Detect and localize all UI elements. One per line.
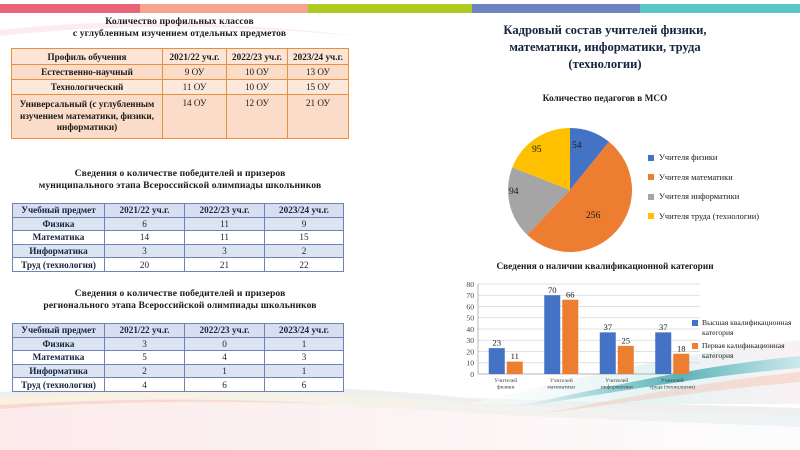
- x-axis-category-label: Учителей: [494, 377, 517, 384]
- legend-swatch-icon: [648, 155, 654, 161]
- y-axis-tick: 10: [466, 359, 474, 368]
- col-header-profile: Профиль обучения: [12, 49, 163, 65]
- cell-value: 1: [265, 364, 344, 378]
- row-label: Математика: [13, 351, 105, 365]
- pie-data-label-1: 256: [586, 210, 600, 221]
- cell-value: 4: [185, 351, 265, 365]
- bar-1-1: [562, 300, 578, 374]
- pie-chart-svg: [506, 126, 634, 254]
- pie-legend-label: Учителя труда (технологии): [659, 212, 759, 221]
- bar-0-0: [489, 348, 505, 374]
- bar-value-label: 25: [621, 335, 630, 345]
- table-profiles-title-line1: Количество профильных классов: [11, 16, 348, 28]
- top-color-strip: [0, 4, 800, 13]
- cell-value: 13 ОУ: [288, 65, 349, 80]
- strip-segment-2: [140, 4, 308, 13]
- bar-2-1: [618, 346, 634, 374]
- cell-value: 1: [185, 364, 265, 378]
- pie-legend-item[interactable]: Учителя физики: [648, 148, 798, 168]
- col-header-2021: 2021/22 уч.г.: [163, 49, 227, 65]
- pie-legend-label: Учителя физики: [659, 153, 717, 162]
- y-axis-tick: 50: [466, 314, 474, 323]
- bar-value-label: 23: [492, 338, 501, 348]
- cell-value: 15 ОУ: [288, 80, 349, 95]
- cell-value: 3: [105, 337, 185, 351]
- y-axis-tick: 40: [466, 325, 474, 334]
- bar-value-label: 18: [677, 343, 686, 353]
- x-axis-category-label: Учителей: [605, 377, 628, 384]
- bar-legend-item[interactable]: Высшая квалификационная категория: [692, 318, 800, 337]
- bar-0-1: [507, 362, 523, 374]
- cell-value: 12 ОУ: [227, 95, 288, 139]
- row-label: Физика: [13, 217, 105, 231]
- cell-value: 3: [265, 351, 344, 365]
- legend-swatch-icon: [692, 343, 698, 349]
- pie-chart-legend: Учителя физикиУчителя математикиУчителя …: [648, 148, 798, 226]
- table-municipal-title-line1: Сведения о количестве победителей и приз…: [0, 168, 360, 180]
- bar-chart-title: Сведения о наличии квалификационной кате…: [440, 262, 770, 272]
- legend-swatch-icon: [692, 320, 698, 326]
- cell-value: 11: [185, 231, 265, 245]
- legend-swatch-icon: [648, 174, 654, 180]
- table-row: Физика 6 11 9: [13, 217, 344, 231]
- cell-value: 5: [105, 351, 185, 365]
- table-profile-classes: Профиль обучения 2021/22 уч.г. 2022/23 у…: [11, 48, 349, 139]
- bar-value-label: 66: [566, 289, 575, 299]
- table-municipal-title: Сведения о количестве победителей и приз…: [0, 168, 360, 191]
- pie-legend-label: Учителя математики: [659, 173, 733, 182]
- bar-3-1: [673, 354, 689, 374]
- table-row-header: Учебный предмет 2021/22 уч.г. 2022/23 уч…: [13, 324, 344, 338]
- y-axis-tick: 70: [466, 291, 474, 300]
- table-municipal-title-line2: муниципального этапа Всероссийской олимп…: [0, 180, 360, 192]
- cell-value: 2: [265, 244, 344, 258]
- slide-heading-line3: (технологии): [420, 56, 790, 73]
- bar-value-label: 70: [548, 285, 557, 295]
- cell-value: 3: [185, 244, 265, 258]
- pie-legend-item[interactable]: Учителя информатики: [648, 187, 798, 207]
- table-regional-title-line1: Сведения о количестве победителей и приз…: [0, 288, 360, 300]
- y-axis-tick: 80: [466, 280, 474, 289]
- cell-value: 6: [105, 217, 185, 231]
- row-label: Технологический: [12, 80, 163, 95]
- row-label: Труд (технология): [13, 378, 105, 392]
- bar-value-label: 11: [511, 351, 519, 361]
- row-label: Естественно-научный: [12, 65, 163, 80]
- bar-legend-label: Первая калификационная категория: [702, 341, 800, 360]
- bar-3-0: [655, 332, 671, 374]
- y-axis-tick: 0: [470, 370, 474, 379]
- x-axis-category-label: математики: [547, 384, 575, 390]
- col-header-2022: 2022/23 уч.г.: [227, 49, 288, 65]
- col-header-2023: 2023/24 уч.г.: [265, 204, 344, 218]
- x-axis-category-label: Учителей: [661, 377, 684, 384]
- strip-segment-5: [640, 4, 800, 13]
- cell-value: 20: [105, 258, 185, 272]
- pie-legend-item[interactable]: Учителя математики: [648, 168, 798, 188]
- pie-legend-label: Учителя информатики: [659, 192, 739, 201]
- strip-segment-4: [472, 4, 640, 13]
- slide-heading-line1: Кадровый состав учителей физики,: [420, 22, 790, 39]
- cell-value: 10 ОУ: [227, 65, 288, 80]
- table-municipal-winners: Учебный предмет 2021/22 уч.г. 2022/23 уч…: [12, 203, 344, 272]
- pie-legend-item[interactable]: Учителя труда (технологии): [648, 207, 798, 227]
- cell-value: 9 ОУ: [163, 65, 227, 80]
- table-regional-title-line2: регионального этапа Всероссийской олимпи…: [0, 300, 360, 312]
- table-row: Математика 14 11 15: [13, 231, 344, 245]
- bar-1-0: [544, 295, 560, 374]
- table-row-header: Профиль обучения 2021/22 уч.г. 2022/23 у…: [12, 49, 349, 65]
- col-header-2023: 2023/24 уч.г.: [288, 49, 349, 65]
- cell-value: 10 ОУ: [227, 80, 288, 95]
- y-axis-tick: 20: [466, 347, 474, 356]
- table-row: Информатика 3 3 2: [13, 244, 344, 258]
- row-label: Информатика: [13, 244, 105, 258]
- slide-heading: Кадровый состав учителей физики, математ…: [420, 22, 790, 73]
- col-header-2021: 2021/22 уч.г.: [105, 324, 185, 338]
- cell-value: 11: [185, 217, 265, 231]
- x-axis-category-label: Учителей: [550, 377, 573, 384]
- table-row: Физика 3 0 1: [13, 337, 344, 351]
- row-label: Труд (технология): [13, 258, 105, 272]
- pie-data-label-2: 94: [509, 186, 519, 197]
- row-label: Информатика: [13, 364, 105, 378]
- y-axis-tick: 60: [466, 302, 474, 311]
- col-header-2023: 2023/24 уч.г.: [265, 324, 344, 338]
- cell-value: 4: [105, 378, 185, 392]
- row-label: Математика: [13, 231, 105, 245]
- cell-value: 2: [105, 364, 185, 378]
- bar-legend-label: Высшая квалификационная категория: [702, 318, 800, 337]
- cell-value: 21 ОУ: [288, 95, 349, 139]
- x-axis-category-label: труда (технологии): [650, 383, 696, 390]
- bar-value-label: 37: [603, 322, 612, 332]
- cell-value: 14 ОУ: [163, 95, 227, 139]
- table-profiles-title: Количество профильных классов с углублен…: [11, 16, 348, 39]
- table-row: Информатика 2 1 1: [13, 364, 344, 378]
- bar-chart-legend: Высшая квалификационная категорияПервая …: [692, 318, 800, 364]
- col-header-2022: 2022/23 уч.г.: [185, 324, 265, 338]
- cell-value: 0: [185, 337, 265, 351]
- bar-value-label: 37: [659, 322, 668, 332]
- cell-value: 11 ОУ: [163, 80, 227, 95]
- x-axis-category-label: информатики: [601, 383, 633, 390]
- legend-swatch-icon: [648, 213, 654, 219]
- col-header-subject: Учебный предмет: [13, 204, 105, 218]
- table-row: Математика 5 4 3: [13, 351, 344, 365]
- table-profiles-title-line2: с углубленным изучением отдельных предме…: [11, 28, 348, 40]
- legend-swatch-icon: [648, 194, 654, 200]
- col-header-2022: 2022/23 уч.г.: [185, 204, 265, 218]
- row-label: Физика: [13, 337, 105, 351]
- strip-segment-3: [308, 4, 472, 13]
- slide-heading-line2: математики, информатики, труда: [420, 39, 790, 56]
- cell-value: 1: [265, 337, 344, 351]
- bar-2-0: [600, 332, 616, 374]
- pie-chart-title: Количество педагогов в МСО: [470, 94, 740, 104]
- pie-chart: 54 256 94 95: [506, 126, 634, 254]
- bar-legend-item[interactable]: Первая калификационная категория: [692, 341, 800, 360]
- table-row-header: Учебный предмет 2021/22 уч.г. 2022/23 уч…: [13, 204, 344, 218]
- table-row: Универсальный (с углубленным изучением м…: [12, 95, 349, 139]
- table-regional-winners: Учебный предмет 2021/22 уч.г. 2022/23 уч…: [12, 323, 344, 392]
- cell-value: 6: [185, 378, 265, 392]
- cell-value: 9: [265, 217, 344, 231]
- y-axis-tick: 30: [466, 336, 474, 345]
- cell-value: 14: [105, 231, 185, 245]
- table-row: Труд (технология) 20 21 22: [13, 258, 344, 272]
- cell-value: 21: [185, 258, 265, 272]
- strip-segment-1: [0, 4, 140, 13]
- row-label: Универсальный (с углубленным изучением м…: [12, 95, 163, 139]
- pie-data-label-0: 54: [572, 140, 582, 151]
- col-header-2021: 2021/22 уч.г.: [105, 204, 185, 218]
- col-header-subject: Учебный предмет: [13, 324, 105, 338]
- pie-data-label-3: 95: [532, 144, 542, 155]
- table-regional-title: Сведения о количестве победителей и приз…: [0, 288, 360, 311]
- table-row: Технологический 11 ОУ 10 ОУ 15 ОУ: [12, 80, 349, 95]
- cell-value: 15: [265, 231, 344, 245]
- cell-value: 3: [105, 244, 185, 258]
- table-row: Труд (технология) 4 6 6: [13, 378, 344, 392]
- slide-canvas: Количество профильных классов с углублен…: [0, 0, 800, 450]
- cell-value: 6: [265, 378, 344, 392]
- x-axis-category-label: физики: [497, 383, 515, 390]
- cell-value: 22: [265, 258, 344, 272]
- table-row: Естественно-научный 9 ОУ 10 ОУ 13 ОУ: [12, 65, 349, 80]
